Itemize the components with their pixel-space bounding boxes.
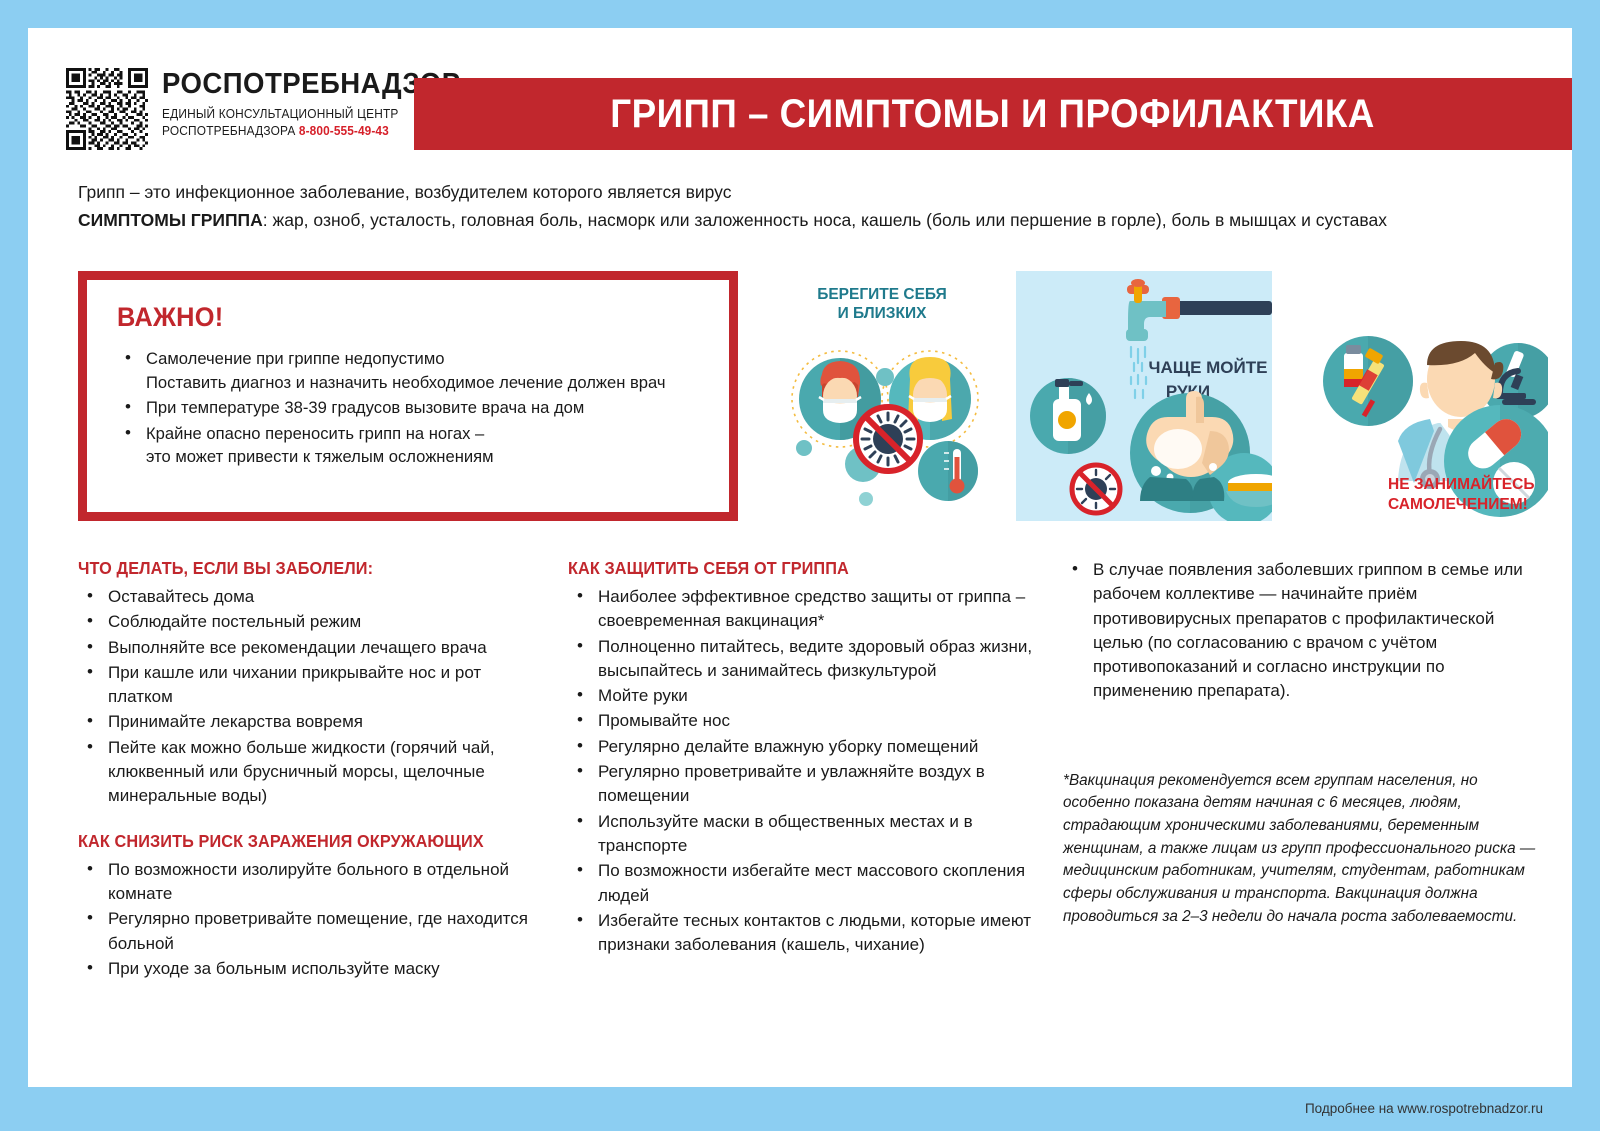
panel3-caption-line1: НЕ ЗАНИМАЙТЕСЬ [1388, 475, 1534, 493]
panel-protect-yourself: БЕРЕГИТЕ СЕБЯ И БЛИЗКИХ [792, 286, 978, 506]
panel2-caption-line1: ЧАЩЕ МОЙТЕ [1149, 358, 1268, 377]
list-item: Наиболее эффективное средство защиты от … [568, 585, 1038, 634]
list-item: Промывайте нос [568, 709, 1038, 733]
list-item: При температуре 38-39 градусов вызовите … [117, 396, 705, 420]
list-item: Регулярно проветривайте помещение, где н… [78, 907, 548, 956]
how-to-protect-list: Наиболее эффективное средство защиты от … [568, 585, 1038, 957]
poster-header: РОСПОТРЕБНАДЗОР ЕДИНЫЙ КОНСУЛЬТАЦИОННЫЙ … [28, 28, 1572, 168]
panel-no-self-medication: НЕ ЗАНИМАЙТЕСЬ САМОЛЕЧЕНИЕМ! [1323, 336, 1548, 517]
list-item: При уходе за больным используйте маску [78, 957, 548, 981]
soap-dispenser-icon [1030, 378, 1106, 454]
list-item: При кашле или чихании прикрывайте нос и … [78, 661, 548, 710]
list-item: Используйте маски в общественных местах … [568, 810, 1038, 859]
list-item: Крайне опасно переносить грипп на ногах … [117, 422, 705, 469]
column-how-to-protect: КАК ЗАЩИТИТЬ СЕБЯ ОТ ГРИППА Наиболее эфф… [568, 558, 1038, 979]
intro-line-1: Грипп – это инфекционное заболевание, во… [78, 178, 1538, 206]
list-item: Соблюдайте постельный режим [78, 610, 548, 634]
important-heading: ВАЖНО! [117, 302, 670, 333]
column-what-to-do: ЧТО ДЕЛАТЬ, ЕСЛИ ВЫ ЗАБОЛЕЛИ: Оставайтес… [78, 558, 548, 1003]
vaccine-vial-icon [1323, 336, 1413, 426]
no-virus-icon [854, 405, 922, 473]
vaccination-footnote: *Вакцинация рекомендуется всем группам н… [1063, 770, 1543, 928]
page-title: ГРИПП – СИМПТОМЫ И ПРОФИЛАКТИКА [611, 92, 1376, 137]
hotline-phone[interactable]: 8-800-555-49-43 [299, 124, 389, 138]
poster-page: РОСПОТРЕБНАДЗОР ЕДИНЫЙ КОНСУЛЬТАЦИОННЫЙ … [28, 28, 1572, 1087]
more-info-link[interactable]: Подробнее на www.rospotrebnadzor.ru [1305, 1101, 1543, 1116]
list-item: В случае появления заболевших гриппом в … [1063, 558, 1543, 704]
section-heading-reduce-risk: КАК СНИЗИТЬ РИСК ЗАРАЖЕНИЯ ОКРУЖАЮЩИХ [78, 831, 515, 852]
list-item: Мойте руки [568, 684, 1038, 708]
section-heading-how-to-protect: КАК ЗАЩИТИТЬ СЕБЯ ОТ ГРИППА [568, 558, 1005, 579]
column-antiviral-note: В случае появления заболевших гриппом в … [1063, 558, 1543, 928]
symptoms-label: СИМПТОМЫ ГРИППА [78, 210, 263, 230]
list-item: Полноценно питайтесь, ведите здоровый об… [568, 635, 1038, 684]
symptoms-text: : жар, озноб, усталость, головная боль, … [263, 210, 1387, 230]
list-item: Регулярно делайте влажную уборку помещен… [568, 735, 1038, 759]
list-item: Избегайте тесных контактов с людьми, кот… [568, 909, 1038, 958]
intro-line-2: СИМПТОМЫ ГРИППА: жар, озноб, усталость, … [78, 206, 1538, 234]
list-item: Принимайте лекарства вовремя [78, 710, 548, 734]
illustration-strip: БЕРЕГИТЕ СЕБЯ И БЛИЗКИХ [758, 271, 1548, 521]
list-item: По возможности изолируйте больного в отд… [78, 858, 548, 907]
section-heading-what-to-do: ЧТО ДЕЛАТЬ, ЕСЛИ ВЫ ЗАБОЛЕЛИ: [78, 558, 515, 579]
intro-block: Грипп – это инфекционное заболевание, во… [78, 178, 1538, 234]
panel-wash-hands: ЧАЩЕ МОЙТЕ РУКИ [1016, 271, 1286, 521]
title-banner: ГРИПП – СИМПТОМЫ И ПРОФИЛАКТИКА [414, 78, 1572, 150]
panel1-caption-line2: И БЛИЗКИХ [838, 305, 928, 322]
important-box: ВАЖНО! Самолечение при гриппе недопустим… [78, 271, 738, 521]
list-item: Выполняйте все рекомендации лечащего вра… [78, 636, 548, 660]
panel3-caption-line2: САМОЛЕЧЕНИЕМ! [1388, 496, 1528, 513]
soap-bar-icon [1226, 474, 1286, 507]
reduce-risk-list: По возможности изолируйте больного в отд… [78, 858, 548, 981]
list-item: Пейте как можно больше жидкости (горячий… [78, 736, 548, 809]
list-item: Регулярно проветривайте и увлажняйте воз… [568, 760, 1038, 809]
qr-code-icon [66, 68, 148, 150]
list-item: Самолечение при гриппе недопустимо Поста… [117, 347, 705, 394]
what-to-do-list: Оставайтесь дома Соблюдайте постельный р… [78, 585, 548, 809]
important-list: Самолечение при гриппе недопустимо Поста… [117, 347, 705, 469]
panel1-caption-line1: БЕРЕГИТЕ СЕБЯ [817, 286, 947, 303]
list-item: Оставайтесь дома [78, 585, 548, 609]
list-item: По возможности избегайте мест массового … [568, 859, 1038, 908]
antiviral-list: В случае появления заболевших гриппом в … [1063, 558, 1543, 704]
thermometer-icon [918, 441, 978, 501]
no-virus-icon [1070, 463, 1122, 515]
